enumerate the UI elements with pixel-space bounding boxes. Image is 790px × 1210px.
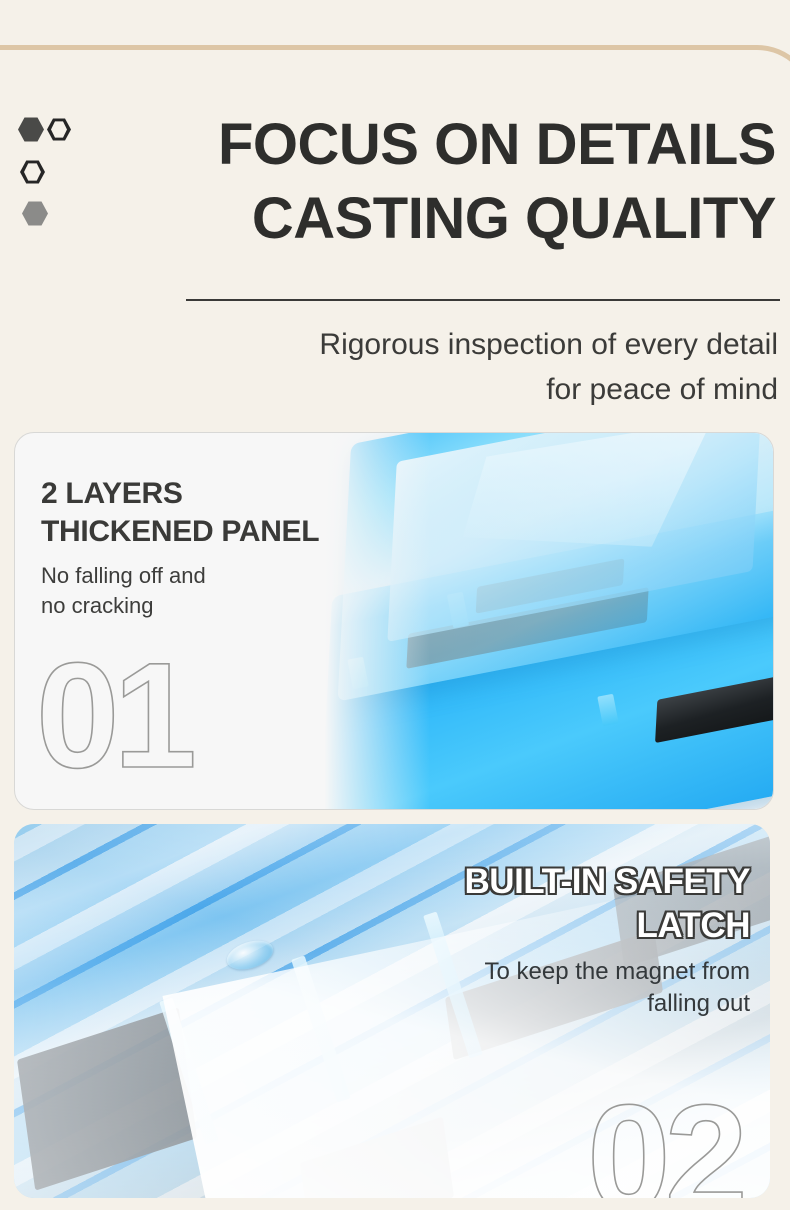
feature-02-description: To keep the magnet from falling out [330,956,750,1020]
page-title-line-2: CASTING QUALITY [0,182,776,256]
feature-02-description-line-1: To keep the magnet from [330,956,750,988]
page-subtitle-line-2: for peace of mind [150,367,778,412]
product-image-thickened-panel [310,433,774,810]
feature-01-title: 2 LAYERS THICKENED PANEL [41,475,341,551]
page-subtitle-line-1: Rigorous inspection of every detail [150,322,778,367]
feature-02-number: 02 [587,1082,742,1198]
feature-01-description: No falling off and no cracking [41,561,341,621]
feature-02-title-line-1: BUILT-IN SAFETY [330,860,750,904]
feature-01-description-line-2: no cracking [41,591,341,621]
feature-02-text-block: BUILT-IN SAFETY LATCH To keep the magnet… [330,860,750,1020]
title-divider [186,299,780,301]
feature-01-description-line-1: No falling off and [41,561,341,591]
feature-01-number-text: 01 [36,631,191,799]
feature-01-number: 01 [36,640,191,790]
page-title-line-1: FOCUS ON DETAILS [0,108,776,182]
feature-02-description-line-2: falling out [330,988,750,1020]
page-title: FOCUS ON DETAILS CASTING QUALITY [0,108,782,256]
feature-01-text-block: 2 LAYERS THICKENED PANEL No falling off … [41,475,341,621]
feature-02-number-text: 02 [587,1073,742,1198]
feature-card-02: BUILT-IN SAFETY LATCH To keep the magnet… [14,824,770,1198]
feature-02-title-line-2: LATCH [330,904,750,948]
page-subtitle: Rigorous inspection of every detail for … [150,322,780,412]
